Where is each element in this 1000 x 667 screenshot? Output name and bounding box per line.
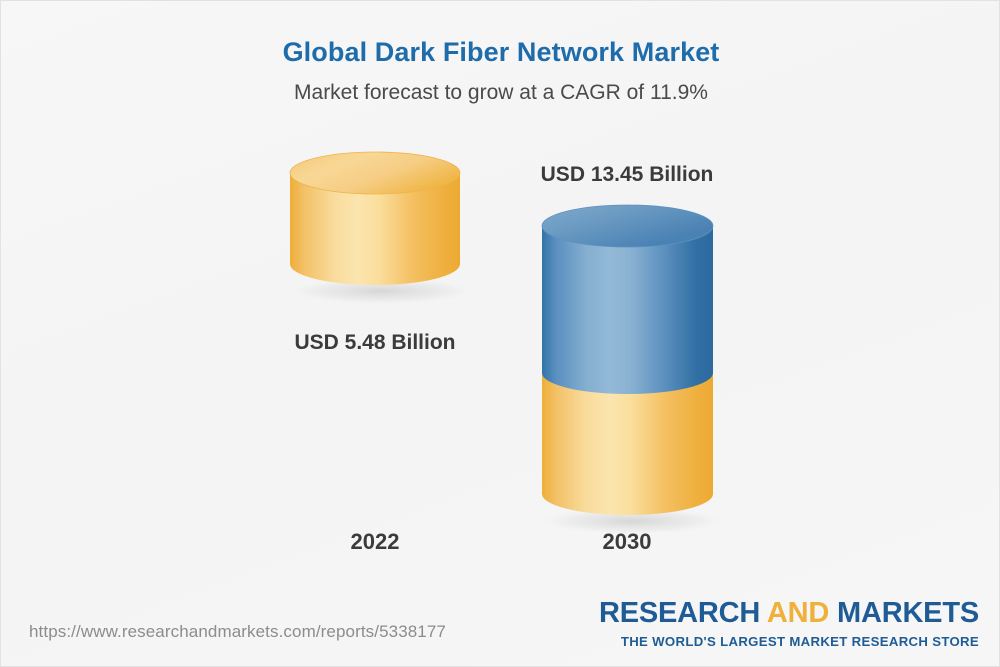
cylinder-cap-2030 xyxy=(542,205,713,247)
bar-value-label-2022: USD 5.48 Billion xyxy=(215,331,535,355)
source-url[interactable]: https://www.researchandmarkets.com/repor… xyxy=(29,622,446,642)
logo-word-research: RESEARCH xyxy=(599,597,767,629)
cylinder-2022 xyxy=(289,151,461,301)
x-axis-label-2030: 2030 xyxy=(467,529,787,555)
logo-wordmark: RESEARCH AND MARKETS xyxy=(599,599,979,628)
cylinder-top-segment-2030 xyxy=(542,226,713,394)
cylinder-base-segment-2030 xyxy=(542,373,713,515)
cylinder-2030 xyxy=(541,151,714,531)
logo-word-and: AND xyxy=(767,597,837,629)
logo-tagline: THE WORLD'S LARGEST MARKET RESEARCH STOR… xyxy=(599,635,979,648)
research-and-markets-logo[interactable]: RESEARCH AND MARKETS THE WORLD'S LARGEST… xyxy=(599,599,979,648)
infographic-container: Global Dark Fiber Network Market Market … xyxy=(0,0,1000,667)
cylinder-top-2022 xyxy=(290,152,460,194)
logo-word-markets: MARKETS xyxy=(837,597,979,629)
chart-plot-area: USD 5.48 Billion xyxy=(1,1,1000,667)
